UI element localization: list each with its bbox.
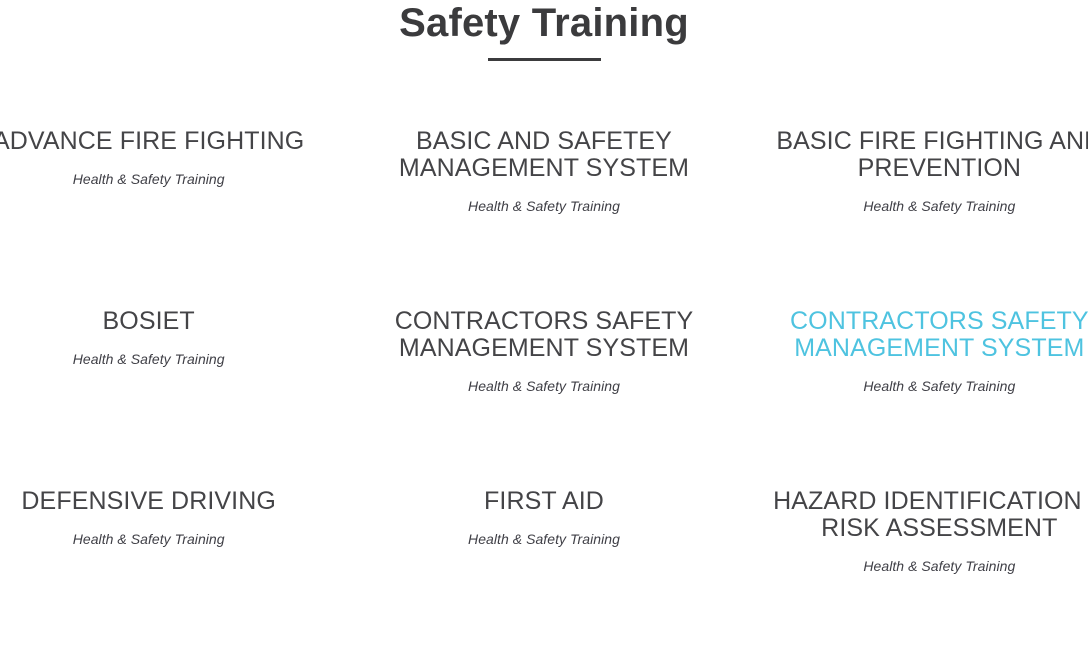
course-grid: ADVANCE FIRE FIGHTINGHealth & Safety Tra…: [0, 124, 1088, 664]
course-card[interactable]: DEFENSIVE DRIVINGHealth & Safety Trainin…: [0, 484, 346, 664]
course-title[interactable]: HAZARD IDENTIFICATION & RISK ASSESSMENT: [756, 484, 1088, 542]
course-card[interactable]: BOSIETHealth & Safety Training: [0, 304, 346, 484]
course-card[interactable]: HAZARD IDENTIFICATION & RISK ASSESSMENTH…: [742, 484, 1088, 664]
course-card[interactable]: CONTRACTORS SAFETY MANAGEMENT SYSTEMHeal…: [742, 304, 1088, 484]
course-category: Health & Safety Training: [756, 182, 1088, 215]
course-category: Health & Safety Training: [0, 335, 332, 368]
course-title[interactable]: CONTRACTORS SAFETY MANAGEMENT SYSTEM: [756, 304, 1088, 362]
course-category: Health & Safety Training: [360, 362, 727, 395]
course-card[interactable]: BASIC AND SAFETEY MANAGEMENT SYSTEMHealt…: [346, 124, 741, 304]
page-title: Safety Training: [0, 0, 1088, 45]
page-header: Safety Training: [0, 0, 1088, 61]
course-card[interactable]: BASIC FIRE FIGHTING AND PREVENTIONHealth…: [742, 124, 1088, 304]
course-title[interactable]: BASIC AND SAFETEY MANAGEMENT SYSTEM: [360, 124, 727, 182]
safety-training-page: Safety Training ADVANCE FIRE FIGHTINGHea…: [0, 0, 1088, 578]
course-title[interactable]: BASIC FIRE FIGHTING AND PREVENTION: [756, 124, 1088, 182]
course-title[interactable]: BOSIET: [0, 304, 332, 335]
course-title[interactable]: ADVANCE FIRE FIGHTING: [0, 124, 332, 155]
course-category: Health & Safety Training: [360, 515, 727, 548]
course-card[interactable]: ADVANCE FIRE FIGHTINGHealth & Safety Tra…: [0, 124, 346, 304]
course-category: Health & Safety Training: [360, 182, 727, 215]
course-title[interactable]: FIRST AID: [360, 484, 727, 515]
course-category: Health & Safety Training: [0, 515, 332, 548]
course-title[interactable]: CONTRACTORS SAFETY MANAGEMENT SYSTEM: [360, 304, 727, 362]
title-divider: [488, 58, 601, 61]
course-title[interactable]: DEFENSIVE DRIVING: [0, 484, 332, 515]
course-card[interactable]: CONTRACTORS SAFETY MANAGEMENT SYSTEMHeal…: [346, 304, 741, 484]
course-category: Health & Safety Training: [756, 542, 1088, 575]
course-category: Health & Safety Training: [756, 362, 1088, 395]
course-card[interactable]: FIRST AIDHealth & Safety Training: [346, 484, 741, 664]
course-category: Health & Safety Training: [0, 155, 332, 188]
